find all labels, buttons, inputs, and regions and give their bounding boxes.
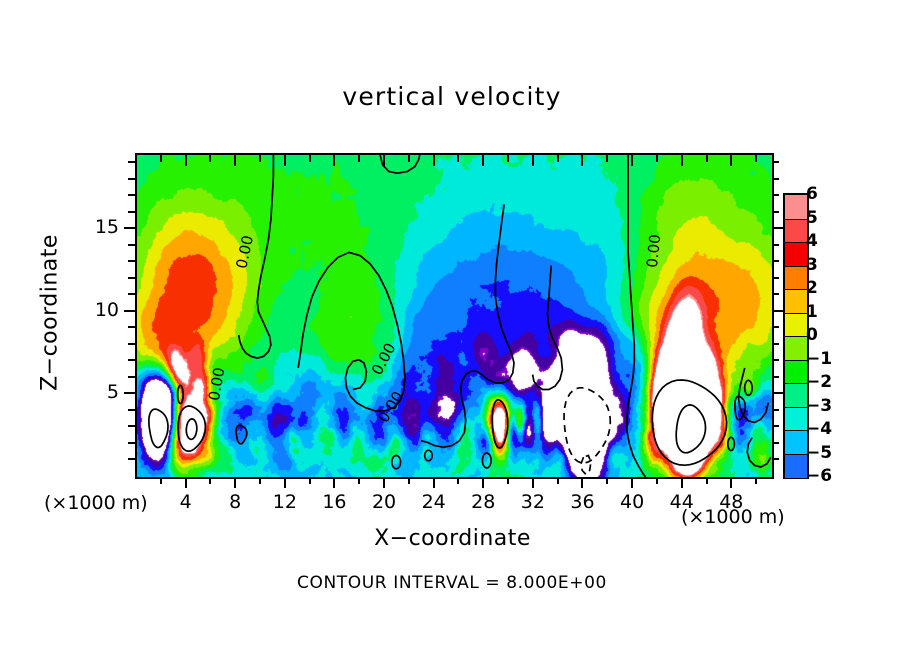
x-axis-tick-top (482, 155, 484, 166)
y-axis-tick-label: 10 (79, 299, 119, 321)
x-axis-tick (259, 477, 261, 484)
x-axis-tick-top (408, 155, 410, 162)
x-axis-tick (656, 477, 658, 484)
zero-contour-line (728, 437, 734, 450)
colorbar-tick-label: −1 (806, 349, 846, 369)
x-axis-tick-top (631, 155, 633, 166)
y-axis-tick-right (772, 161, 779, 163)
y-axis-tick (128, 194, 135, 196)
colorbar-band (785, 313, 807, 337)
x-axis-tick-top (656, 155, 658, 162)
y-axis-tick-right (772, 458, 779, 460)
x-axis-tick-top (606, 155, 608, 162)
y-axis-tick-right (772, 343, 779, 345)
colorbar-band (785, 454, 807, 478)
x-axis-tick (185, 477, 187, 488)
x-axis-tick-top (309, 155, 311, 162)
y-axis-tick-right (772, 194, 779, 196)
zero-contour-line (392, 456, 401, 469)
colorbar-band (785, 407, 807, 431)
zero-contour-line (747, 437, 771, 467)
zero-contour-line (186, 419, 197, 439)
x-axis-tick (631, 477, 633, 488)
y-axis-tick-right (772, 244, 779, 246)
y-axis-tick-right (772, 425, 779, 427)
page-title: vertical velocity (0, 82, 904, 111)
y-axis-tick (128, 244, 135, 246)
zero-contour-line (236, 425, 247, 444)
y-axis-tick (128, 458, 135, 460)
colorbar-band (785, 360, 807, 384)
y-axis-tick-right (772, 310, 783, 312)
zero-contour-line (533, 266, 563, 390)
y-axis-tick-label: 15 (79, 216, 119, 238)
colorbar-band-divider (785, 407, 807, 408)
x-axis-tick (209, 477, 211, 484)
figure-canvas: vertical velocity X−coordinate Z−coordin… (0, 0, 904, 654)
x-axis-tick-top (457, 155, 459, 162)
y-axis-tick (128, 161, 135, 163)
y-axis-tick-label: 5 (79, 381, 119, 403)
y-axis-tick-right (772, 359, 779, 361)
x-axis-tick-top (259, 155, 261, 162)
colorbar-band (785, 195, 807, 219)
colorbar-tick-label: 2 (806, 278, 846, 298)
x-axis-tick (755, 477, 757, 484)
y-axis-title: Z−coordinate (38, 203, 63, 423)
colorbar-band-divider (785, 242, 807, 243)
x-axis-tick-top (730, 155, 732, 166)
negative-contour-line (581, 456, 591, 475)
contour-plot-area (135, 153, 774, 479)
colorbar-tick-label: 5 (806, 208, 846, 228)
colorbar-tick-label: 1 (806, 302, 846, 322)
colorbar-tick-label: −2 (806, 372, 846, 392)
colorbar-band-divider (785, 336, 807, 337)
colorbar-band (785, 430, 807, 454)
colorbar-tick-label: −3 (806, 396, 846, 416)
colorbar-band (785, 383, 807, 407)
x-axis-tick (532, 477, 534, 488)
x-axis-tick (160, 477, 162, 484)
y-axis-tick-right (772, 227, 783, 229)
y-axis-tick-right (772, 376, 779, 378)
colorbar-band-divider (785, 454, 807, 455)
x-axis-tick-top (681, 155, 683, 166)
y-axis-tick-right (772, 442, 779, 444)
contour-level-label: 0.00 (643, 233, 664, 268)
colorbar-band (785, 336, 807, 360)
colorbar-tick-label: −4 (806, 419, 846, 439)
y-axis-tick (128, 211, 135, 213)
zero-contour-line (421, 205, 514, 448)
colorbar-band-divider (785, 289, 807, 290)
y-axis-tick-right (772, 409, 779, 411)
x-axis-tick-top (755, 155, 757, 162)
y-axis-tick (128, 442, 135, 444)
contour-interval-caption: CONTOUR INTERVAL = 8.000E+00 (0, 573, 904, 593)
colorbar-band (785, 219, 807, 243)
y-axis-tick-right (772, 326, 779, 328)
x-axis-tick (507, 477, 509, 484)
colorbar-tick-label: 0 (806, 325, 846, 345)
y-axis-tick (128, 260, 135, 262)
x-axis-tick (482, 477, 484, 488)
x-axis-tick (606, 477, 608, 484)
x-axis-tick-top (581, 155, 583, 166)
x-axis-tick (284, 477, 286, 488)
x-axis-tick-top (185, 155, 187, 166)
x-axis-tick (706, 477, 708, 484)
y-axis-tick-right (772, 211, 779, 213)
y-axis-tick (128, 359, 135, 361)
x-axis-tick-top (234, 155, 236, 166)
colorbar-tick-label: 3 (806, 255, 846, 275)
y-axis-tick (128, 425, 135, 427)
x-axis-tick (234, 477, 236, 488)
x-axis-tick (681, 477, 683, 488)
y-axis-tick (128, 326, 135, 328)
zero-contour-line (425, 450, 433, 461)
contour-line-overlay (137, 155, 772, 477)
colorbar-band-divider (785, 266, 807, 267)
x-axis-tick-top (706, 155, 708, 162)
negative-contour-line (564, 388, 610, 463)
colorbar-band-divider (785, 313, 807, 314)
zero-contour-line (676, 405, 705, 453)
x-axis-tick (383, 477, 385, 488)
zero-contour-line (178, 385, 183, 403)
y-axis-tick-right (772, 293, 779, 295)
x-axis-tick-top (284, 155, 286, 166)
zero-contour-line (298, 252, 405, 411)
x-axis-tick (457, 477, 459, 484)
x-axis-tick-top (557, 155, 559, 162)
y-axis-tick (124, 392, 135, 394)
x-axis-tick-top (532, 155, 534, 166)
x-axis-tick (581, 477, 583, 488)
colorbar-tick-label: −6 (806, 466, 846, 486)
x-axis-tick-top (507, 155, 509, 162)
y-axis-tick (124, 227, 135, 229)
colorbar-band (785, 289, 807, 313)
y-axis-tick (124, 310, 135, 312)
y-axis-tick (128, 409, 135, 411)
colorbar-band (785, 266, 807, 290)
x-axis-tick-label: 48 (701, 491, 761, 513)
x-axis-tick-top (209, 155, 211, 162)
zero-contour-line (380, 155, 420, 173)
x-axis-tick (358, 477, 360, 484)
y-axis-tick-right (772, 392, 783, 394)
x-axis-tick (309, 477, 311, 484)
x-axis-tick-top (160, 155, 162, 162)
colorbar-band-divider (785, 383, 807, 384)
colorbar-band-divider (785, 430, 807, 431)
x-axis-tick (557, 477, 559, 484)
zero-contour-line (482, 453, 491, 468)
x-axis-title: X−coordinate (135, 526, 770, 551)
y-axis-tick (128, 343, 135, 345)
y-axis-tick (128, 376, 135, 378)
colorbar-band (785, 242, 807, 266)
zero-contour-line (149, 409, 168, 447)
zero-contour-line (745, 380, 753, 395)
x-axis-tick-top (383, 155, 385, 166)
y-axis-tick-right (772, 260, 779, 262)
zero-contour-line (627, 155, 646, 477)
x-axis-tick-top (333, 155, 335, 166)
x-axis-tick (408, 477, 410, 484)
zero-contour-line (492, 400, 508, 448)
x-axis-tick (433, 477, 435, 488)
colorbar-band-divider (785, 219, 807, 220)
x-axis-tick (333, 477, 335, 488)
zero-contour-line (178, 406, 205, 451)
y-axis-tick (128, 277, 135, 279)
x-axis-tick (730, 477, 732, 488)
colorbar-tick-label: −5 (806, 443, 846, 463)
y-axis-tick (128, 293, 135, 295)
y-axis-tick-right (772, 277, 779, 279)
colorbar-band-divider (785, 360, 807, 361)
x-axis-tick-top (433, 155, 435, 166)
y-axis-units-label: (×1000 m) (44, 492, 148, 514)
colorbar-tick-label: 6 (806, 184, 846, 204)
y-axis-tick-right (772, 178, 779, 180)
colorbar-tick-label: 4 (806, 231, 846, 251)
y-axis-tick (128, 178, 135, 180)
x-axis-tick-top (358, 155, 360, 162)
